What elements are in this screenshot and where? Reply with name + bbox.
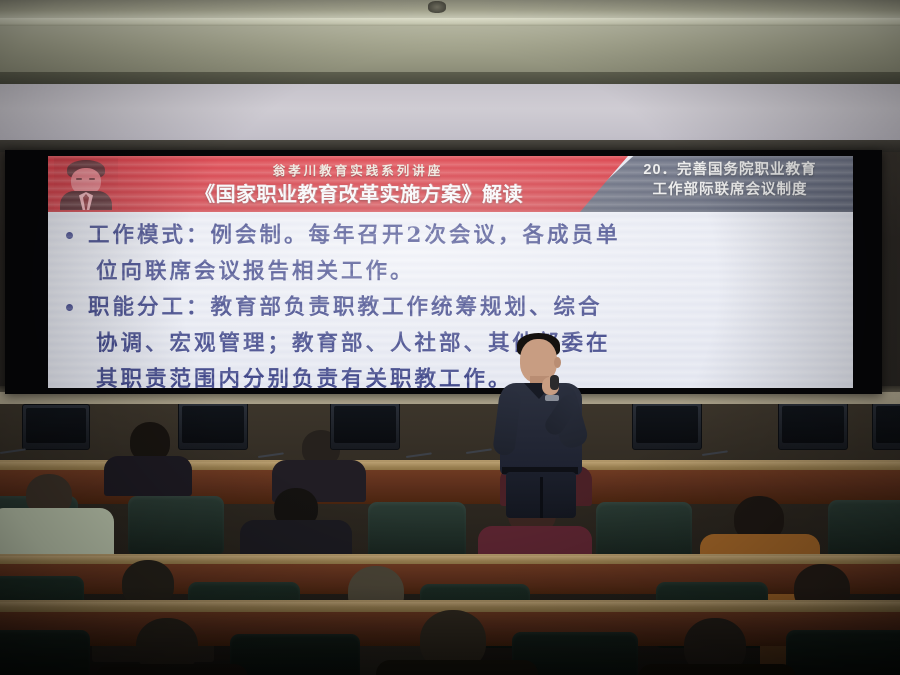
slide-series-subtitle: 翁孝川教育实践系列讲座 [158,160,558,179]
monitor-screen [334,406,396,443]
audience-chair-r4-1[interactable] [0,630,90,675]
desk-microphone-5 [702,450,728,456]
audience-person-r2-a [0,474,120,564]
slide-header-band: 翁孝川教育实践系列讲座 《国家职业教育改革实施方案》解读 20．完善国务院职业教… [48,156,853,212]
portrait-eye-left [76,178,82,180]
presenter-leg-gap [540,477,543,518]
person-body [376,660,538,675]
bullet-dot-icon [66,304,73,311]
portrait-eye-right [89,178,95,180]
audience-person-r4-c [638,618,794,675]
audience-chair-r2-4[interactable] [596,502,692,560]
audience-person-r4-b [376,610,536,675]
desk-monitor-4 [632,404,702,450]
slide-section-heading-line1: 20．完善国务院职业教育 [606,161,853,181]
monitor-screen [782,406,844,443]
auditorium-seating: 翁孝川 [0,404,900,675]
desk-monitor-1 [22,404,90,450]
person-body [96,664,248,675]
bullet-1-line-1: 工作模式：例会制。每年召开2次会议，各成员单 [62,218,839,254]
monitor-screen [26,408,86,443]
audience-chair-r4-2[interactable] [230,634,360,675]
desk-monitor-3 [330,404,400,450]
desk-monitor-2 [178,404,248,450]
slide-main-title: 《国家职业教育改革实施方案》解读 [144,178,574,207]
row3-desk-shine [0,602,900,607]
monitor-screen [876,406,900,443]
slide-section-heading-line2: 工作部际联席会议制度 [606,181,853,201]
speaker-portrait-photo [54,158,118,210]
ceiling-soffit [0,84,900,146]
presenter-ear [554,357,561,368]
audience-chair-r2-2[interactable] [128,496,224,554]
slide-bullet-1: 工作模式：例会制。每年召开2次会议，各成员单 位向联席会议报告相关工作。 [62,218,839,290]
ceiling-speck [428,1,446,13]
slide-bullet-2: 职能分工：教育部负责职教工作统筹规划、综合 协调、宏观管理；教育部、人社部、其他… [62,290,839,388]
monitor-screen [636,406,698,443]
audience-person-r4-a [96,618,246,675]
slide-section-heading: 20．完善国务院职业教育 工作部际联席会议制度 [606,161,853,200]
audience-chair-r2-5[interactable] [828,500,900,558]
desk-monitor-5 [778,404,848,450]
audience-chair-r4-4[interactable] [786,630,900,675]
lecture-hall-photo: 翁孝川教育实践系列讲座 《国家职业教育改革实施方案》解读 20．完善国务院职业教… [0,0,900,675]
audience-chair-r2-3[interactable] [368,502,466,560]
desk-microphone-1 [0,448,26,454]
desk-monitor-6 [872,404,900,450]
desk-microphone-4 [466,448,492,454]
desk-microphone-3 [406,452,432,458]
presenter-wristwatch [545,395,559,401]
ceiling-beam-face [0,26,900,74]
presenter-person [494,333,590,518]
bullet-2-line-2: 协调、宏观管理；教育部、人社部、其他部委在 [62,326,839,362]
slide-body: 工作模式：例会制。每年召开2次会议，各成员单 位向联席会议报告相关工作。 职能分… [48,212,853,388]
bullet-2-line-3: 其职责范围内分别负责有关职教工作。 [62,362,839,388]
microphone-icon [550,375,559,390]
person-body [638,664,796,675]
bullet-2-line-1: 职能分工：教育部负责职教工作统筹规划、综合 [62,290,839,326]
bullet-1-line-2: 位向联席会议报告相关工作。 [62,254,839,290]
monitor-screen [182,406,244,443]
presentation-slide[interactable]: 翁孝川教育实践系列讲座 《国家职业教育改革实施方案》解读 20．完善国务院职业教… [48,156,853,388]
bullet-dot-icon [66,232,73,239]
